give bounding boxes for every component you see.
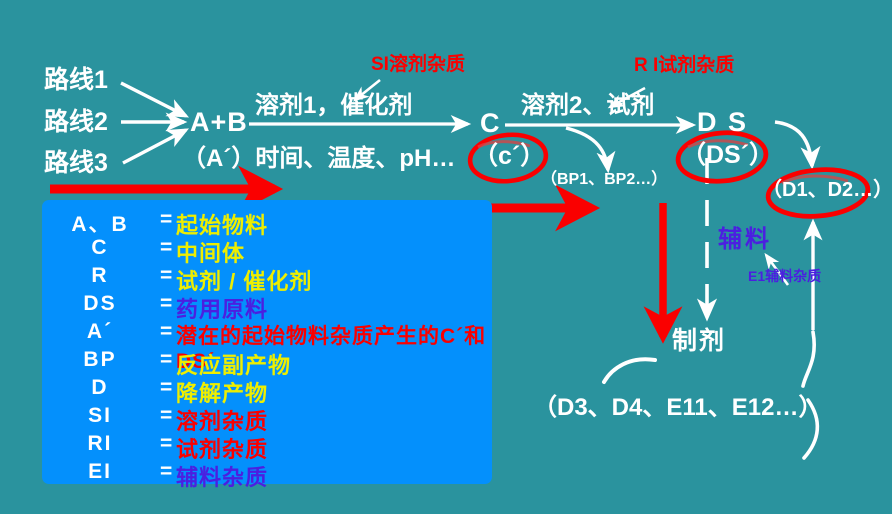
- legend-key: R: [42, 264, 158, 288]
- legend-row: A´ = 潜在的起始物料杂质产生的C´和DS´: [42, 320, 492, 348]
- legend-equals: =: [160, 320, 172, 344]
- route-3-arrow: [123, 130, 186, 163]
- legend-equals: =: [160, 460, 172, 484]
- legend-key: A´: [42, 320, 158, 344]
- route-1-arrow: [121, 83, 186, 116]
- legend-equals: =: [160, 348, 172, 372]
- si-callout-label: SI溶剂杂质: [371, 55, 465, 74]
- legend-row: EI = 辅料杂质: [42, 460, 492, 488]
- degradants-arrow: [775, 122, 812, 166]
- legend-equals: =: [160, 292, 172, 316]
- byproducts-arrow: [566, 128, 608, 170]
- byproducts-label: （BP1、BP2…）: [541, 172, 667, 188]
- start-material-impurity-label: （A´）时间、温度、pH…: [182, 147, 455, 171]
- route-1-label: 路线1: [44, 68, 108, 93]
- drug-product-label: 制剂: [672, 329, 726, 354]
- legend-equals: =: [160, 236, 172, 260]
- legend-row: A、B = 起始物料: [42, 208, 492, 236]
- excipient-callout-label: E1辅料杂质: [748, 269, 821, 283]
- start-material-label: A+B: [190, 109, 248, 136]
- drug-substance-label: D S: [697, 109, 748, 136]
- legend-equals: =: [160, 376, 172, 400]
- legend-key: D: [42, 376, 158, 400]
- legend-row: DS = 药用原料: [42, 292, 492, 320]
- route-2-label: 路线2: [44, 110, 108, 135]
- ri-callout-label: R I试剂杂质: [634, 56, 734, 75]
- legend-key: SI: [42, 404, 158, 428]
- diagram-canvas: 路线1 路线2 路线3 A+B （A´）时间、温度、pH… 溶剂1，催化剂 SI…: [0, 0, 892, 514]
- intermediate-impurity-label: （c´）: [473, 144, 545, 169]
- product-impurities-label: （D3、D4、E11、E12…）: [533, 396, 822, 420]
- legend-row: D = 降解产物: [42, 376, 492, 404]
- product-impurity-return-arrow: [803, 222, 817, 458]
- excipient-label: 辅料: [718, 228, 772, 252]
- legend-box: A、B = 起始物料 C = 中间体 R = 试剂 / 催化剂 DS = 药用原…: [42, 200, 492, 484]
- legend-key: C: [42, 236, 158, 260]
- legend-key: EI: [42, 460, 158, 484]
- degradants-label: （D1、D2…）: [762, 180, 892, 200]
- legend-row: SI = 溶剂杂质: [42, 404, 492, 432]
- step-1-conditions-label: 溶剂1，催化剂: [255, 94, 412, 118]
- legend-row: RI = 试剂杂质: [42, 432, 492, 460]
- drug-substance-impurity-label: （DS´）: [681, 143, 774, 168]
- legend-key: A、B: [42, 208, 158, 238]
- legend-row: C = 中间体: [42, 236, 492, 264]
- legend-equals: =: [160, 208, 172, 232]
- legend-equals: =: [160, 404, 172, 428]
- legend-key: RI: [42, 432, 158, 456]
- legend-row: BP = 反应副产物: [42, 348, 492, 376]
- legend-equals: =: [160, 264, 172, 288]
- legend-key: BP: [42, 348, 158, 372]
- legend-key: DS: [42, 292, 158, 316]
- legend-value: 辅料杂质: [176, 460, 268, 492]
- step-2-conditions-label: 溶剂2、试剂: [521, 94, 654, 118]
- legend-row: R = 试剂 / 催化剂: [42, 264, 492, 292]
- drug-product-impurity-curve: [604, 359, 655, 382]
- route-3-label: 路线3: [44, 151, 108, 176]
- legend-equals: =: [160, 432, 172, 456]
- intermediate-label: C: [480, 110, 500, 137]
